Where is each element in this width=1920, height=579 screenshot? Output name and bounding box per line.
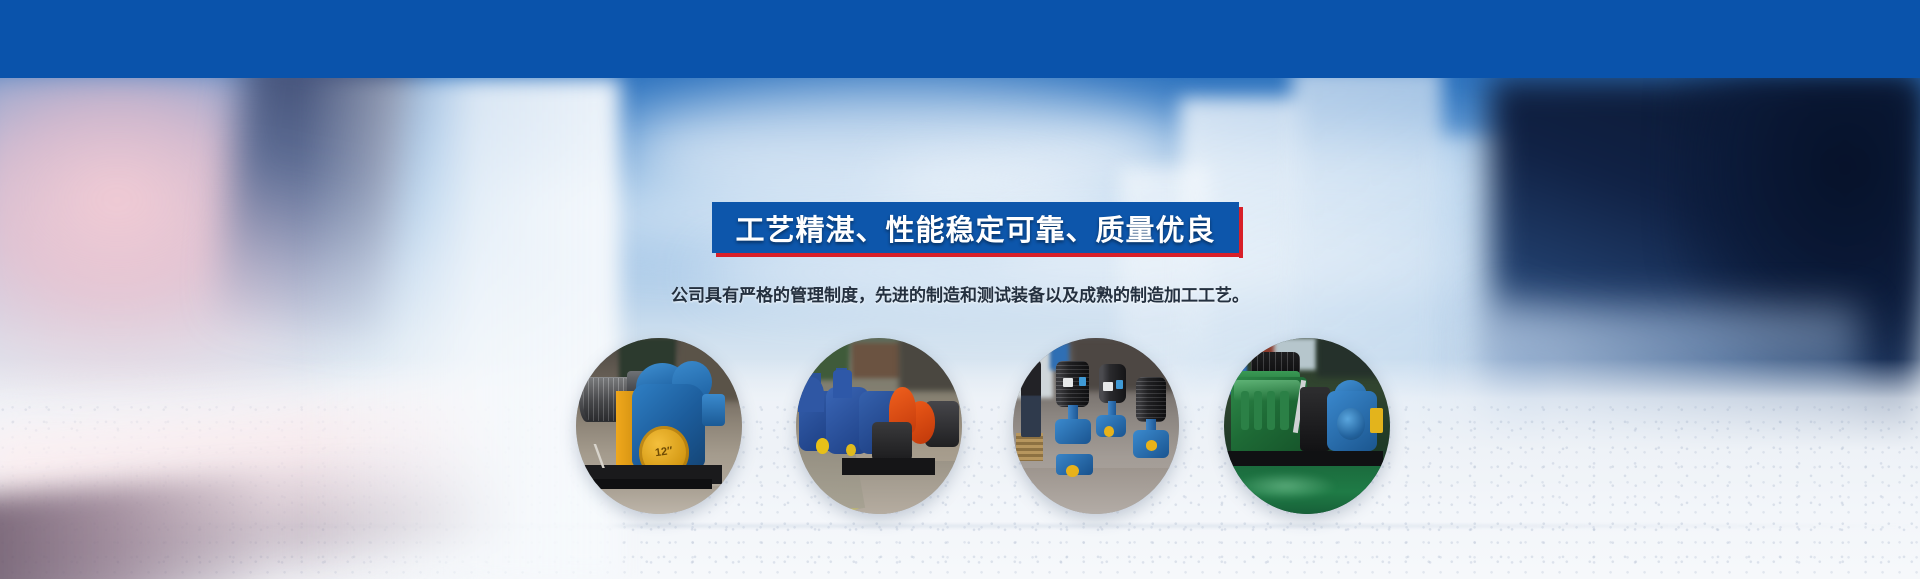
headline-box: 工艺精湛、性能稳定可靠、质量优良 xyxy=(712,202,1239,253)
subtitle-text: 公司具有严格的管理制度，先进的制造和测试装备以及成熟的制造加工工艺。 xyxy=(671,281,1249,306)
product-photo-4[interactable] xyxy=(1224,338,1390,514)
headline-accent-bottom xyxy=(716,253,1243,257)
split-case-pump-image: 12″ xyxy=(576,338,742,514)
photo-circle-mask xyxy=(796,338,962,514)
photo-circle-mask: 12″ xyxy=(576,338,742,514)
headline-text: 工艺精湛、性能稳定可靠、质量优良 xyxy=(735,207,1215,249)
product-photo-3[interactable] xyxy=(1013,338,1179,514)
top-blue-bar xyxy=(0,0,1920,78)
photo-circle-mask xyxy=(1013,338,1179,514)
photo-circle-mask xyxy=(1224,338,1390,514)
product-photo-1[interactable]: 12″ xyxy=(576,338,742,514)
banner-stage: 工艺精湛、性能稳定可靠、质量优良 公司具有严格的管理制度，先进的制造和测试装备以… xyxy=(0,0,1920,579)
product-photo-2[interactable] xyxy=(796,338,962,514)
diesel-engine-pump-image xyxy=(1224,338,1390,514)
headline-accent-right xyxy=(1239,207,1243,258)
slurry-pump-row-image xyxy=(796,338,962,514)
left-fade-overlay xyxy=(300,78,620,579)
vertical-inline-pump-image xyxy=(1013,338,1179,514)
